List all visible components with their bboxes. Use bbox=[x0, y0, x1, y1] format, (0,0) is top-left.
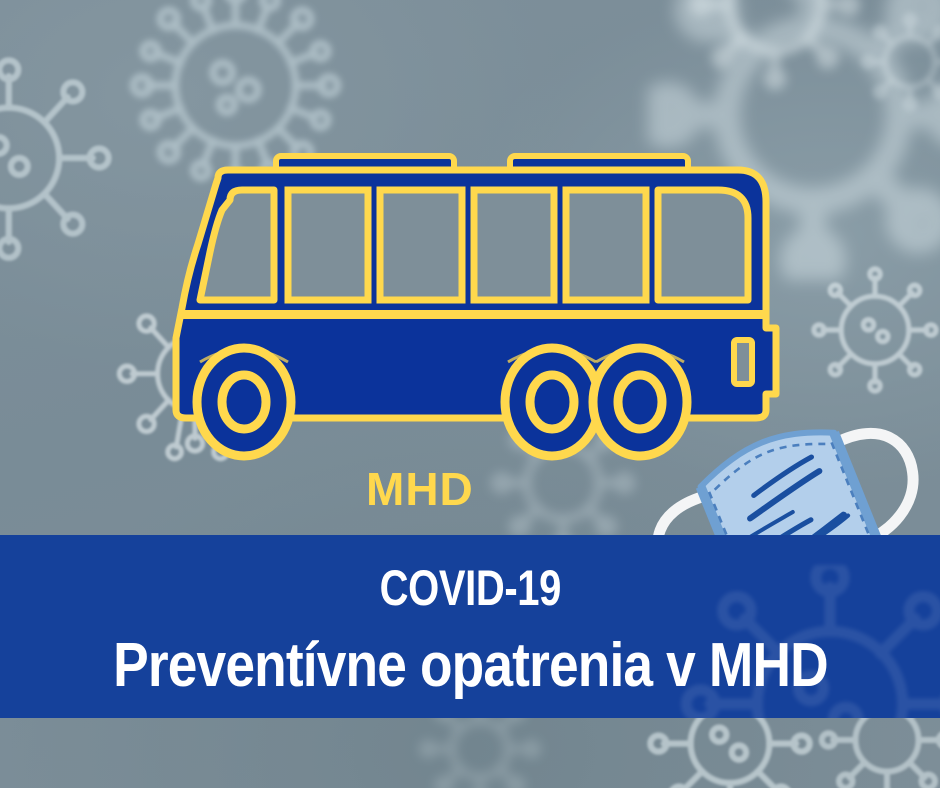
virus-particle-icon bbox=[0, 28, 118, 288]
bus-window bbox=[474, 190, 554, 300]
bus-route-label: MHD bbox=[366, 466, 474, 512]
bus-window bbox=[380, 190, 462, 300]
bus-rear-vent bbox=[734, 340, 752, 384]
bus-wheel-front bbox=[197, 348, 291, 456]
virus-particle-icon bbox=[660, 565, 940, 718]
bus-window bbox=[658, 190, 748, 300]
bus-window bbox=[288, 190, 368, 300]
bus-window bbox=[566, 190, 646, 300]
bus-wheel-rear-inner bbox=[505, 348, 599, 456]
virus-particle-icon bbox=[810, 265, 940, 395]
virus-particle-icon bbox=[860, 12, 940, 112]
bottom-banner bbox=[0, 535, 940, 718]
bus-beltline bbox=[178, 310, 768, 319]
covid-mhd-poster: MHD bbox=[0, 0, 940, 788]
virus-particle-icon bbox=[690, 0, 860, 90]
